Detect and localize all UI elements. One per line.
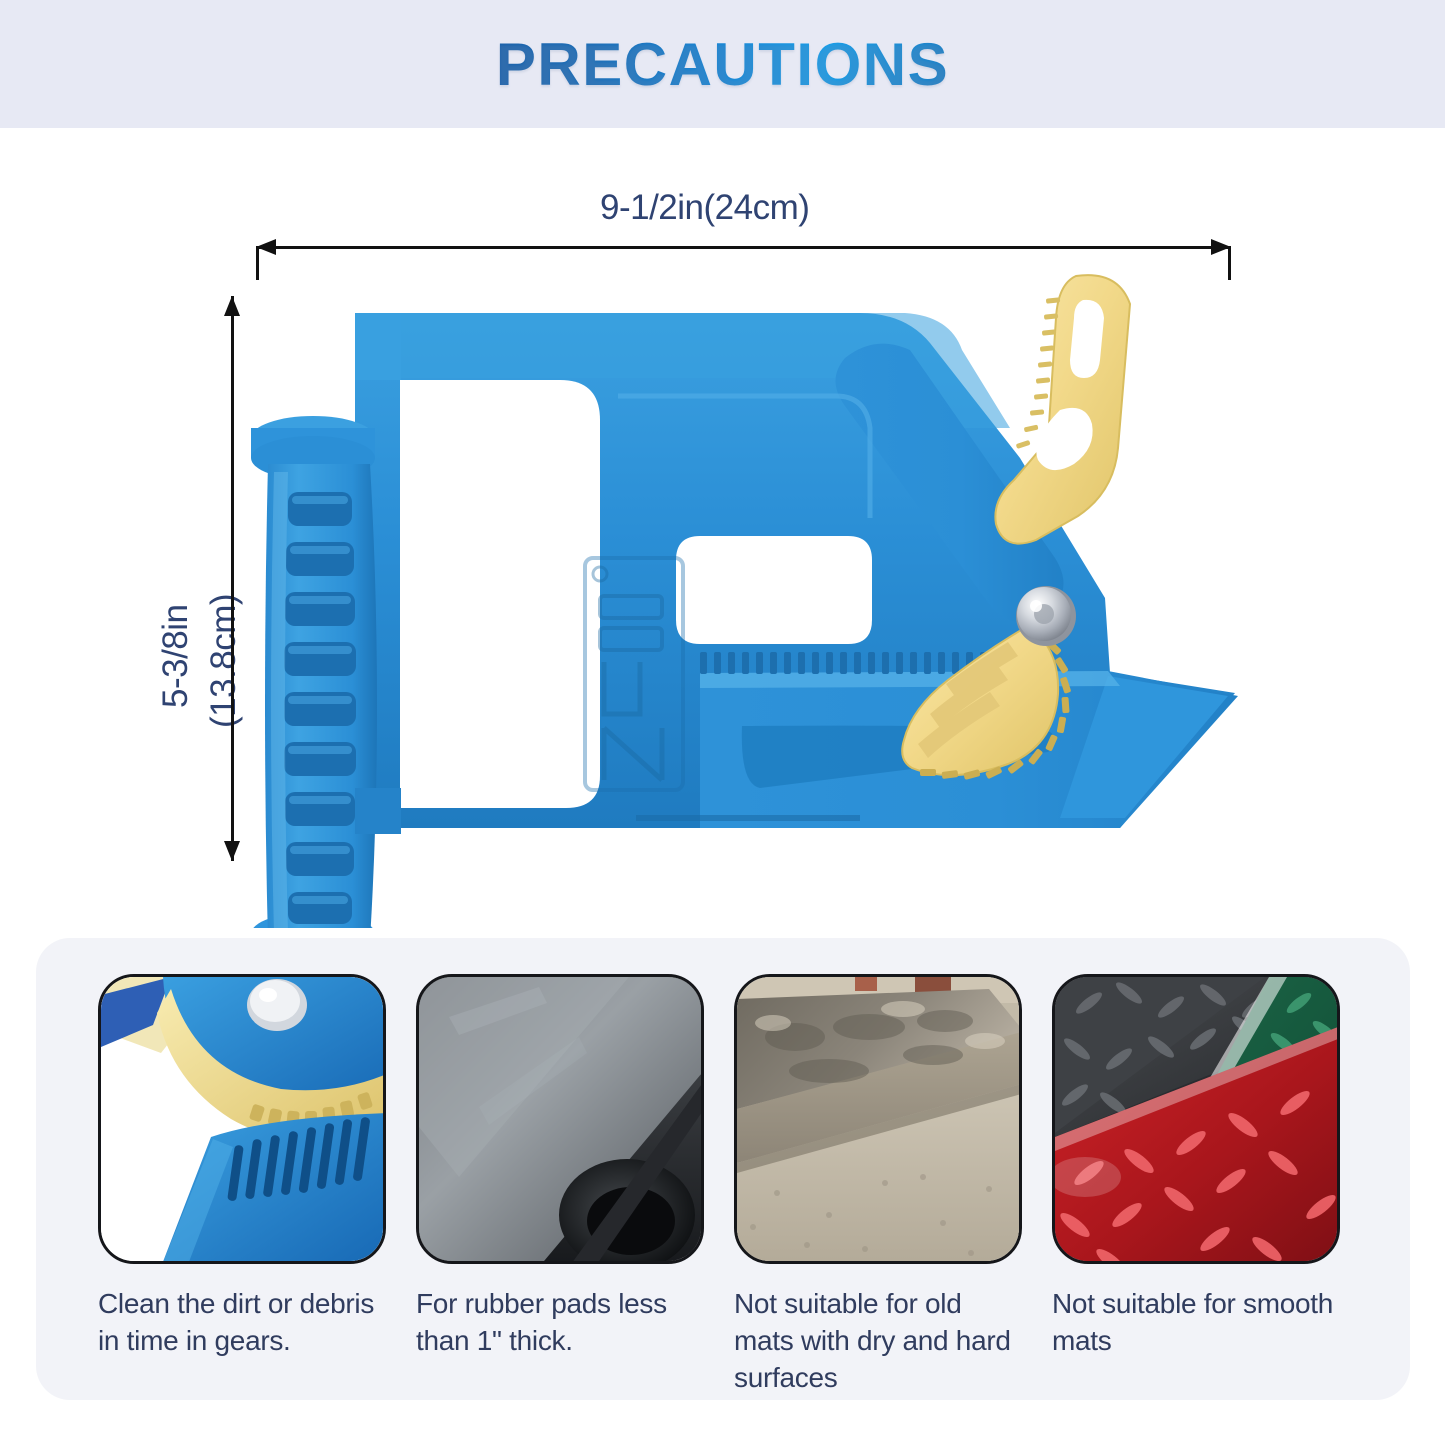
precaution-item-old-dry-mats[interactable]: Not suitable for old mats with dry and h… (734, 974, 1022, 1397)
precaution-thumbnail-gear-closeup (98, 974, 386, 1264)
precaution-caption: For rubber pads less than 1" thick. (416, 1286, 704, 1360)
header-band: PRECAUTIONS (0, 0, 1445, 128)
tool-serrated-ridge (700, 652, 987, 674)
precaution-thumbnail-old-mat (734, 974, 1022, 1264)
precaution-caption: Not suitable for smooth mats (1052, 1286, 1340, 1360)
precaution-item-gears-clean[interactable]: Clean the dirt or debris in time in gear… (98, 974, 386, 1397)
precautions-panel: Clean the dirt or debris in time in gear… (36, 938, 1410, 1400)
tool-grip-slots (284, 492, 356, 924)
precautions-list: Clean the dirt or debris in time in gear… (36, 938, 1410, 1397)
precaution-caption: Clean the dirt or debris in time in gear… (98, 1286, 386, 1360)
precaution-caption: Not suitable for old mats with dry and h… (734, 1286, 1022, 1397)
precaution-thumbnail-rubber-sheet (416, 974, 704, 1264)
tool-lever-upper (995, 275, 1130, 543)
precaution-thumbnail-diamond-mats (1052, 974, 1340, 1264)
product-stage: 9-1/2in(24cm) 5-3/8in (13.8cm) 1-3/4in (… (0, 128, 1445, 928)
page-title: PRECAUTIONS (496, 30, 949, 99)
tool-handle-window (400, 380, 600, 808)
product-illustration (0, 128, 1445, 928)
tool-lower-window (676, 536, 872, 644)
precaution-item-rubber-thickness[interactable]: For rubber pads less than 1" thick. (416, 974, 704, 1397)
precaution-item-smooth-mats[interactable]: Not suitable for smooth mats (1052, 974, 1340, 1397)
